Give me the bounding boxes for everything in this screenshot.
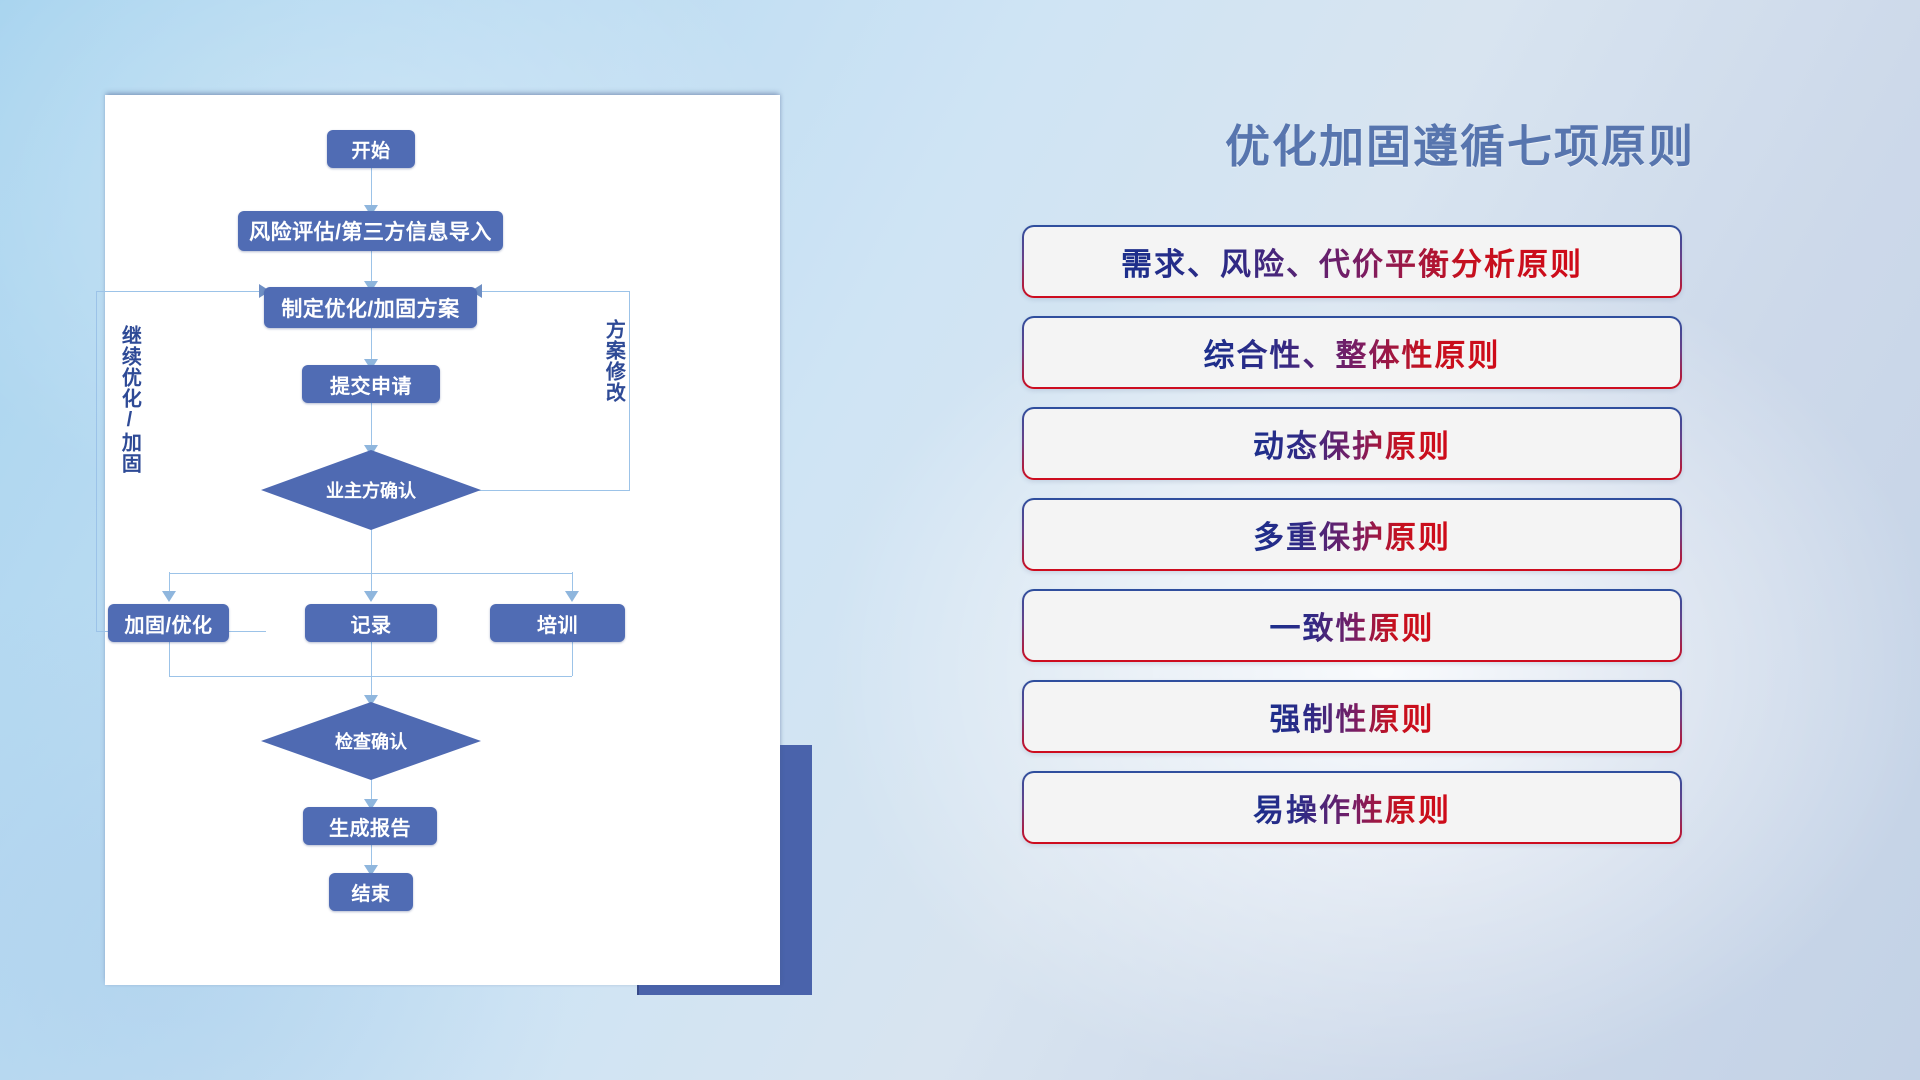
arrowhead-training — [565, 591, 579, 602]
connector-record-down — [371, 641, 372, 676]
flowchart-canvas: 方案修改 继续优化/加固 开始 — [105, 95, 780, 985]
principle-label: 多重保护原则 — [1253, 512, 1451, 557]
connector-reinforce-down — [169, 641, 170, 676]
principle-label: 易操作性原则 — [1253, 785, 1451, 830]
connector-right-up — [629, 291, 630, 490]
arrowhead-record — [364, 591, 378, 602]
flow-node-submit[interactable]: 提交申请 — [302, 365, 440, 403]
page-title: 优化加固遵循七项原则 — [1000, 110, 1920, 175]
principle-card[interactable]: 多重保护原则 — [1022, 498, 1682, 571]
flow-node-submit-label: 提交申请 — [330, 370, 412, 399]
flow-node-owner-confirm-label: 业主方确认 — [326, 477, 416, 503]
arrowhead-reinforce — [162, 591, 176, 602]
principle-card[interactable]: 综合性、整体性原则 — [1022, 316, 1682, 389]
flow-node-record-label: 记录 — [351, 609, 392, 638]
connector-submit-owner — [371, 403, 372, 451]
edge-label-left-loop: 继续优化/加固 — [119, 325, 139, 474]
principle-card[interactable]: 强制性原则 — [1022, 680, 1682, 753]
principle-label: 一致性原则 — [1270, 603, 1435, 648]
principle-list: 需求、风险、代价平衡分析原则 综合性、整体性原则 动态保护原则 多重保护原则 一… — [1022, 225, 1902, 862]
principle-card[interactable]: 需求、风险、代价平衡分析原则 — [1022, 225, 1682, 298]
connector-owner-down — [371, 529, 372, 573]
flow-node-report[interactable]: 生成报告 — [303, 807, 437, 845]
principle-label: 综合性、整体性原则 — [1204, 330, 1501, 375]
flow-node-owner-confirm[interactable]: 业主方确认 — [261, 450, 481, 530]
principle-card[interactable]: 一致性原则 — [1022, 589, 1682, 662]
connector-left-up — [96, 291, 97, 631]
flow-node-risk-assessment[interactable]: 风险评估/第三方信息导入 — [238, 211, 503, 251]
flow-node-risk-assessment-label: 风险评估/第三方信息导入 — [249, 216, 492, 246]
connector-start-risk — [371, 167, 372, 209]
principle-card[interactable]: 动态保护原则 — [1022, 407, 1682, 480]
principles-panel: 优化加固遵循七项原则 需求、风险、代价平衡分析原则 综合性、整体性原则 动态保护… — [1000, 0, 1920, 1080]
flow-node-training-label: 培训 — [537, 609, 578, 638]
flow-node-plan-label: 制定优化/加固方案 — [281, 293, 459, 323]
edge-label-right-loop: 方案修改 — [603, 319, 623, 403]
flow-node-reinforce-label: 加固/优化 — [124, 609, 212, 638]
flow-node-check-confirm[interactable]: 检查确认 — [261, 702, 481, 780]
connector-right-to-plan — [478, 291, 630, 292]
flow-node-start[interactable]: 开始 — [327, 130, 415, 168]
flowchart-panel: 方案修改 继续优化/加固 开始 — [0, 0, 1000, 1080]
flow-node-record[interactable]: 记录 — [305, 604, 437, 642]
principle-label: 动态保护原则 — [1253, 421, 1451, 466]
flow-node-end[interactable]: 结束 — [329, 873, 413, 911]
connector-left-to-plan — [96, 291, 264, 292]
principle-card[interactable]: 易操作性原则 — [1022, 771, 1682, 844]
connector-owner-right — [475, 490, 630, 491]
flow-node-end-label: 结束 — [351, 879, 390, 906]
flow-node-reinforce[interactable]: 加固/优化 — [108, 604, 229, 642]
flow-node-start-label: 开始 — [351, 136, 390, 163]
principle-label: 强制性原则 — [1270, 694, 1435, 739]
flow-node-plan[interactable]: 制定优化/加固方案 — [264, 287, 477, 328]
flow-node-report-label: 生成报告 — [329, 812, 411, 841]
flow-node-check-confirm-label: 检查确认 — [335, 728, 407, 754]
principle-label: 需求、风险、代价平衡分析原则 — [1121, 239, 1583, 284]
flow-node-training[interactable]: 培训 — [490, 604, 625, 642]
connector-training-down — [572, 641, 573, 676]
